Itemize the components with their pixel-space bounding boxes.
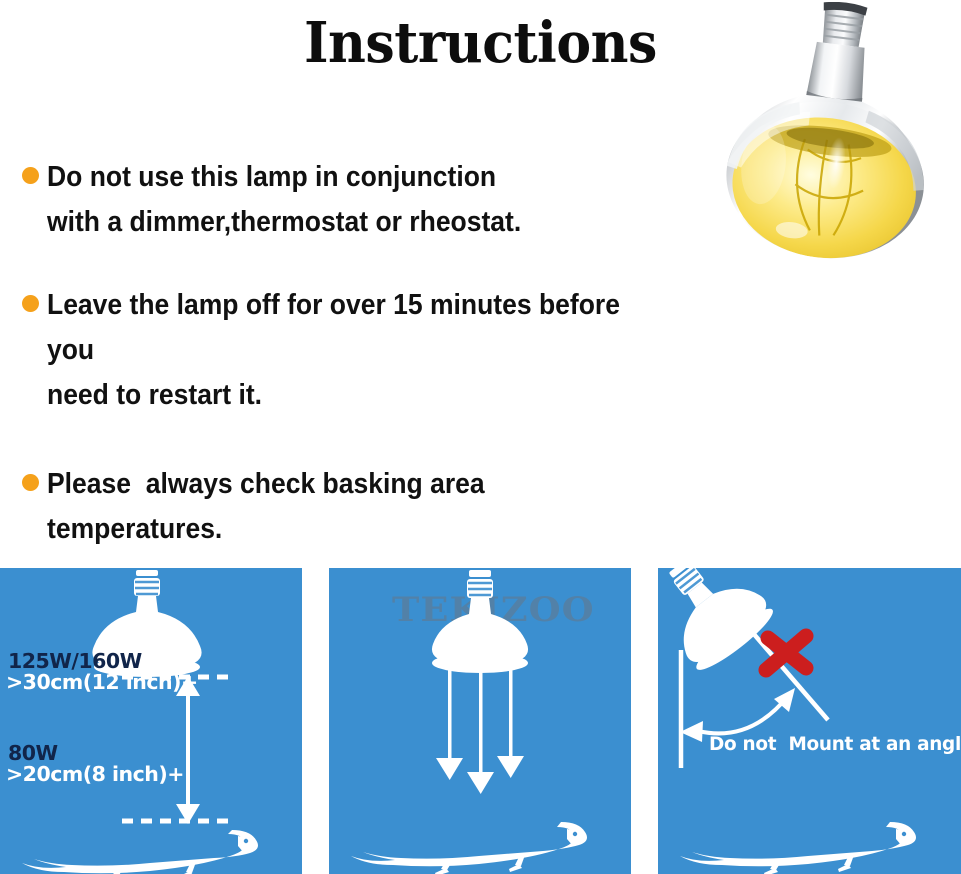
bullet-dot-icon [22,474,39,491]
product-photo-heat-lamp-bulb [698,2,960,270]
caption-mount-angle: Do not Mount at an angle [709,733,961,755]
panel-distance: 125W/160W >30cm(12 inch)+ 80W >20cm(8 in… [0,568,302,874]
list-item: Please always check basking area tempera… [0,462,700,552]
label-wattage-low: 80W [8,742,58,764]
label-distance-low: >20cm(8 inch)+ [6,763,184,785]
bullet-text: Leave the lamp off for over 15 minutes b… [47,283,654,418]
bulb-icon [432,570,528,673]
bullet-dot-icon [22,167,39,184]
heat-arrows-icon [436,668,524,794]
bullet-text: Please always check basking area tempera… [47,462,654,552]
panel-heat-direction: TEKIZOO [329,568,631,874]
angle-arc [698,696,788,733]
label-wattage-high: 125W/160W [8,650,142,672]
list-item: Leave the lamp off for over 15 minutes b… [0,283,700,418]
bullet-text: Do not use this lamp in conjunction with… [47,155,654,245]
instructions-bullet-list: Do not use this lamp in conjunction with… [0,155,700,578]
lizard-silhouette-icon [680,822,916,874]
bullet-dot-icon [22,295,39,312]
panel-mount-angle: Do not Mount at an angle [658,568,961,874]
lizard-silhouette-icon [351,822,587,874]
instructions-page: Instructions [0,0,961,874]
tilted-bulb-icon [658,568,779,677]
diagram-panels: 125W/160W >30cm(12 inch)+ 80W >20cm(8 in… [0,568,961,874]
list-item: Do not use this lamp in conjunction with… [0,155,700,245]
lizard-silhouette-icon [22,830,258,874]
distance-arrow-icon [176,676,200,824]
label-distance-high: >30cm(12 inch)+ [6,671,198,693]
